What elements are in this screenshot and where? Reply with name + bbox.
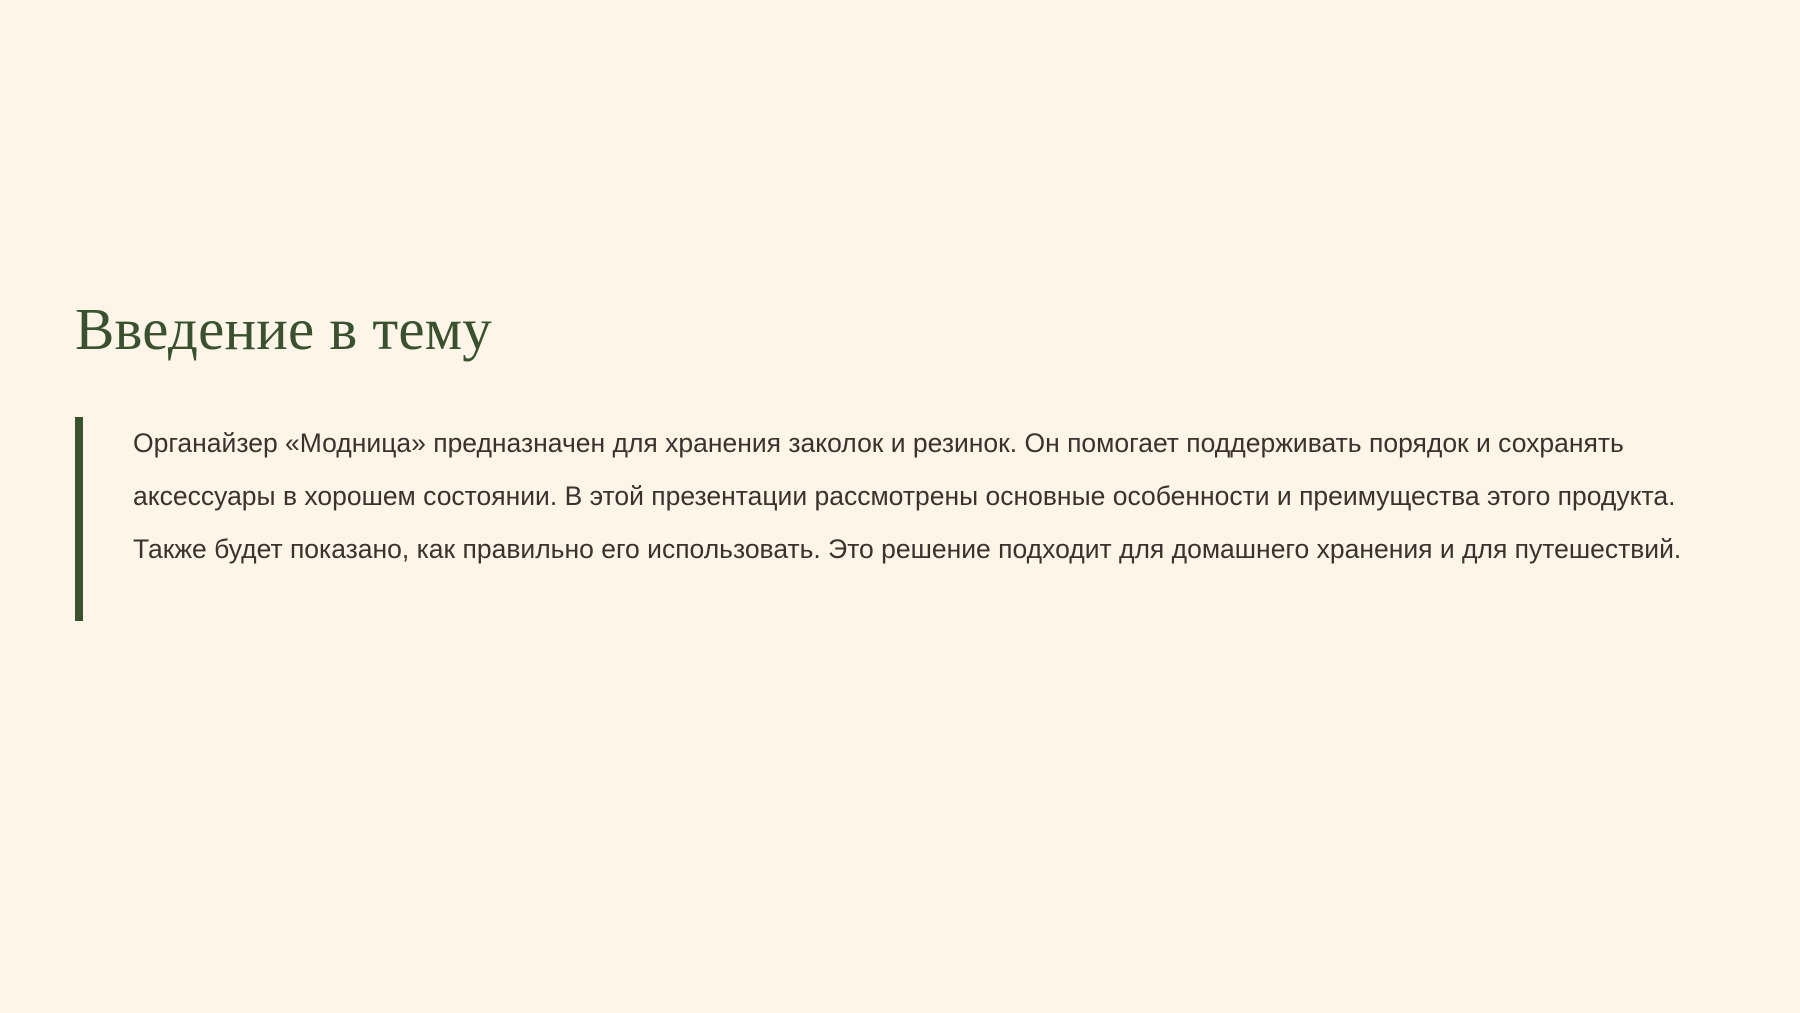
slide-body-text: Органайзер «Модница» предназначен для хр… bbox=[133, 417, 1713, 576]
accent-bar bbox=[75, 417, 83, 621]
presentation-slide: Введение в тему Органайзер «Модница» пре… bbox=[0, 0, 1800, 1013]
slide-title: Введение в тему bbox=[75, 296, 1725, 362]
slide-content: Введение в тему Органайзер «Модница» пре… bbox=[75, 296, 1725, 621]
body-block: Органайзер «Модница» предназначен для хр… bbox=[75, 417, 1725, 621]
